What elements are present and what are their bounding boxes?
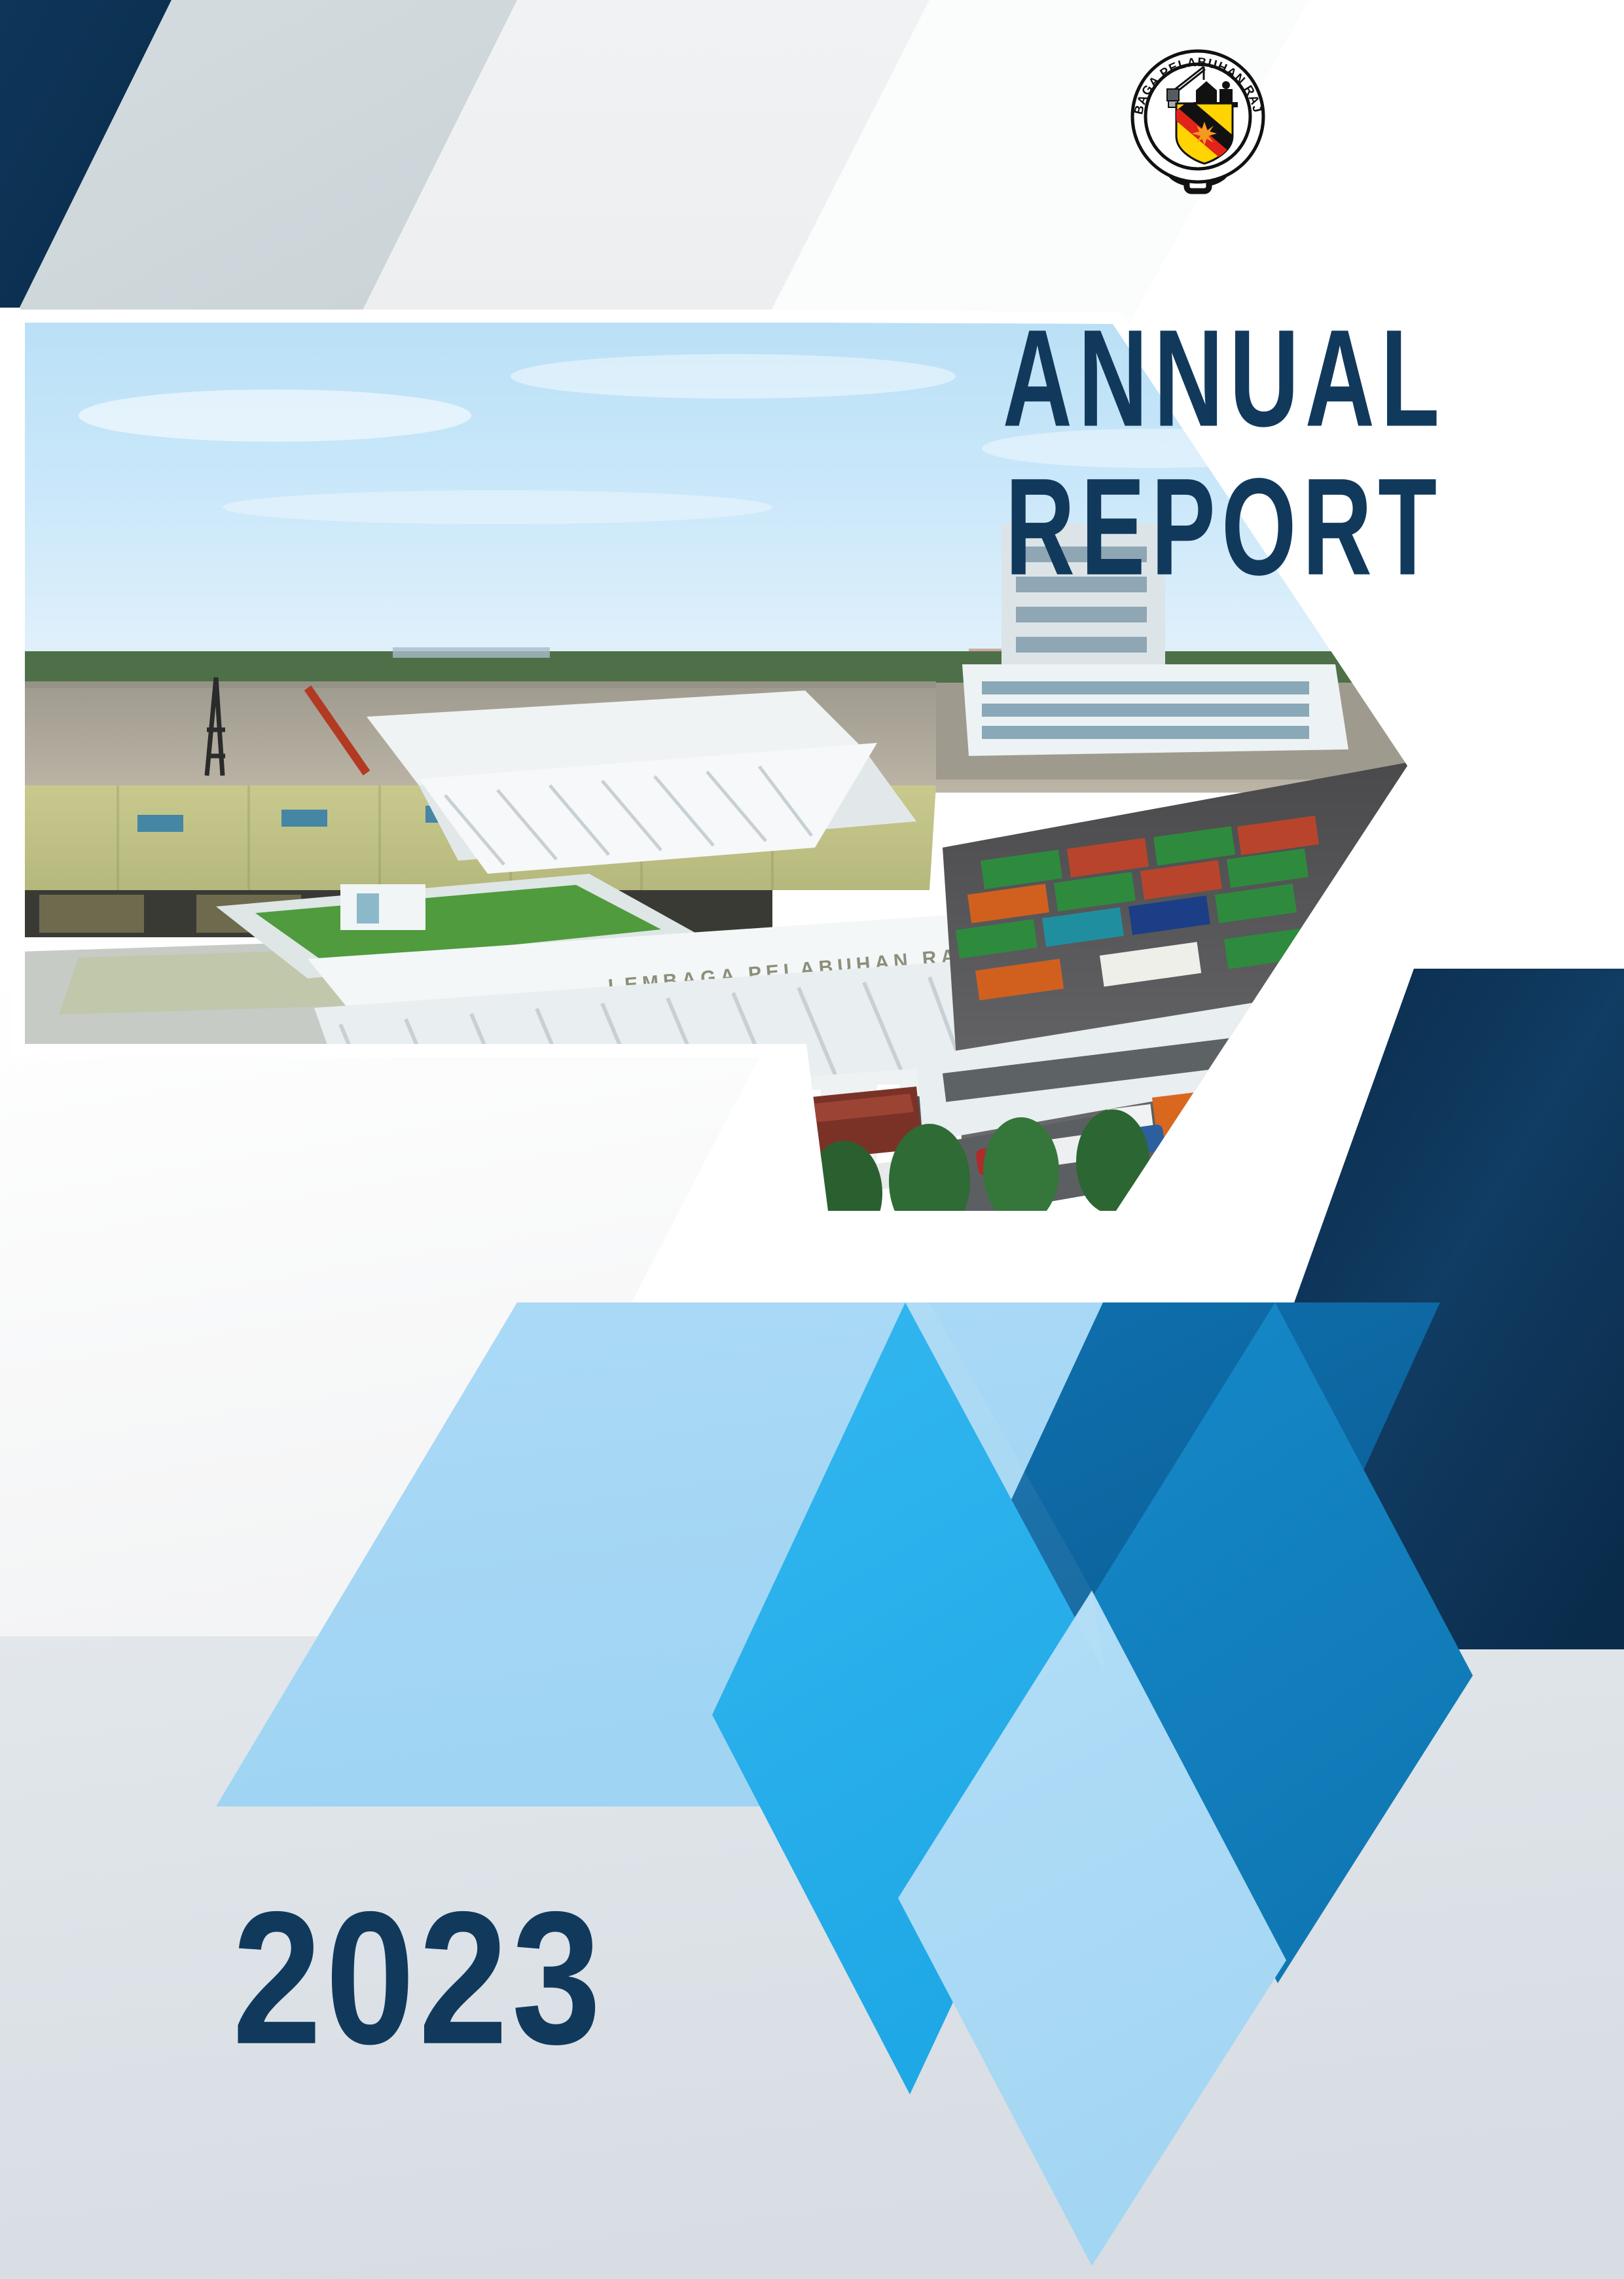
report-cover-page: LEMBAGA PELABUHAN RAJANG [0,0,1624,2279]
yellow-bunting [406,1158,525,1193]
title-line-report: REPORT [977,459,1471,595]
cover-year: 2023 [232,1869,605,2087]
cover-title: ANNUAL REPORT [956,311,1492,562]
container-label-text: SIN YANG [1197,1107,1287,1134]
rooftop-hut [340,884,425,930]
organisation-logo: LEMBAGA PELABUHAN RAJANG [1128,39,1269,203]
flags [728,1141,778,1214]
title-line-annual: ANNUAL [977,311,1471,446]
